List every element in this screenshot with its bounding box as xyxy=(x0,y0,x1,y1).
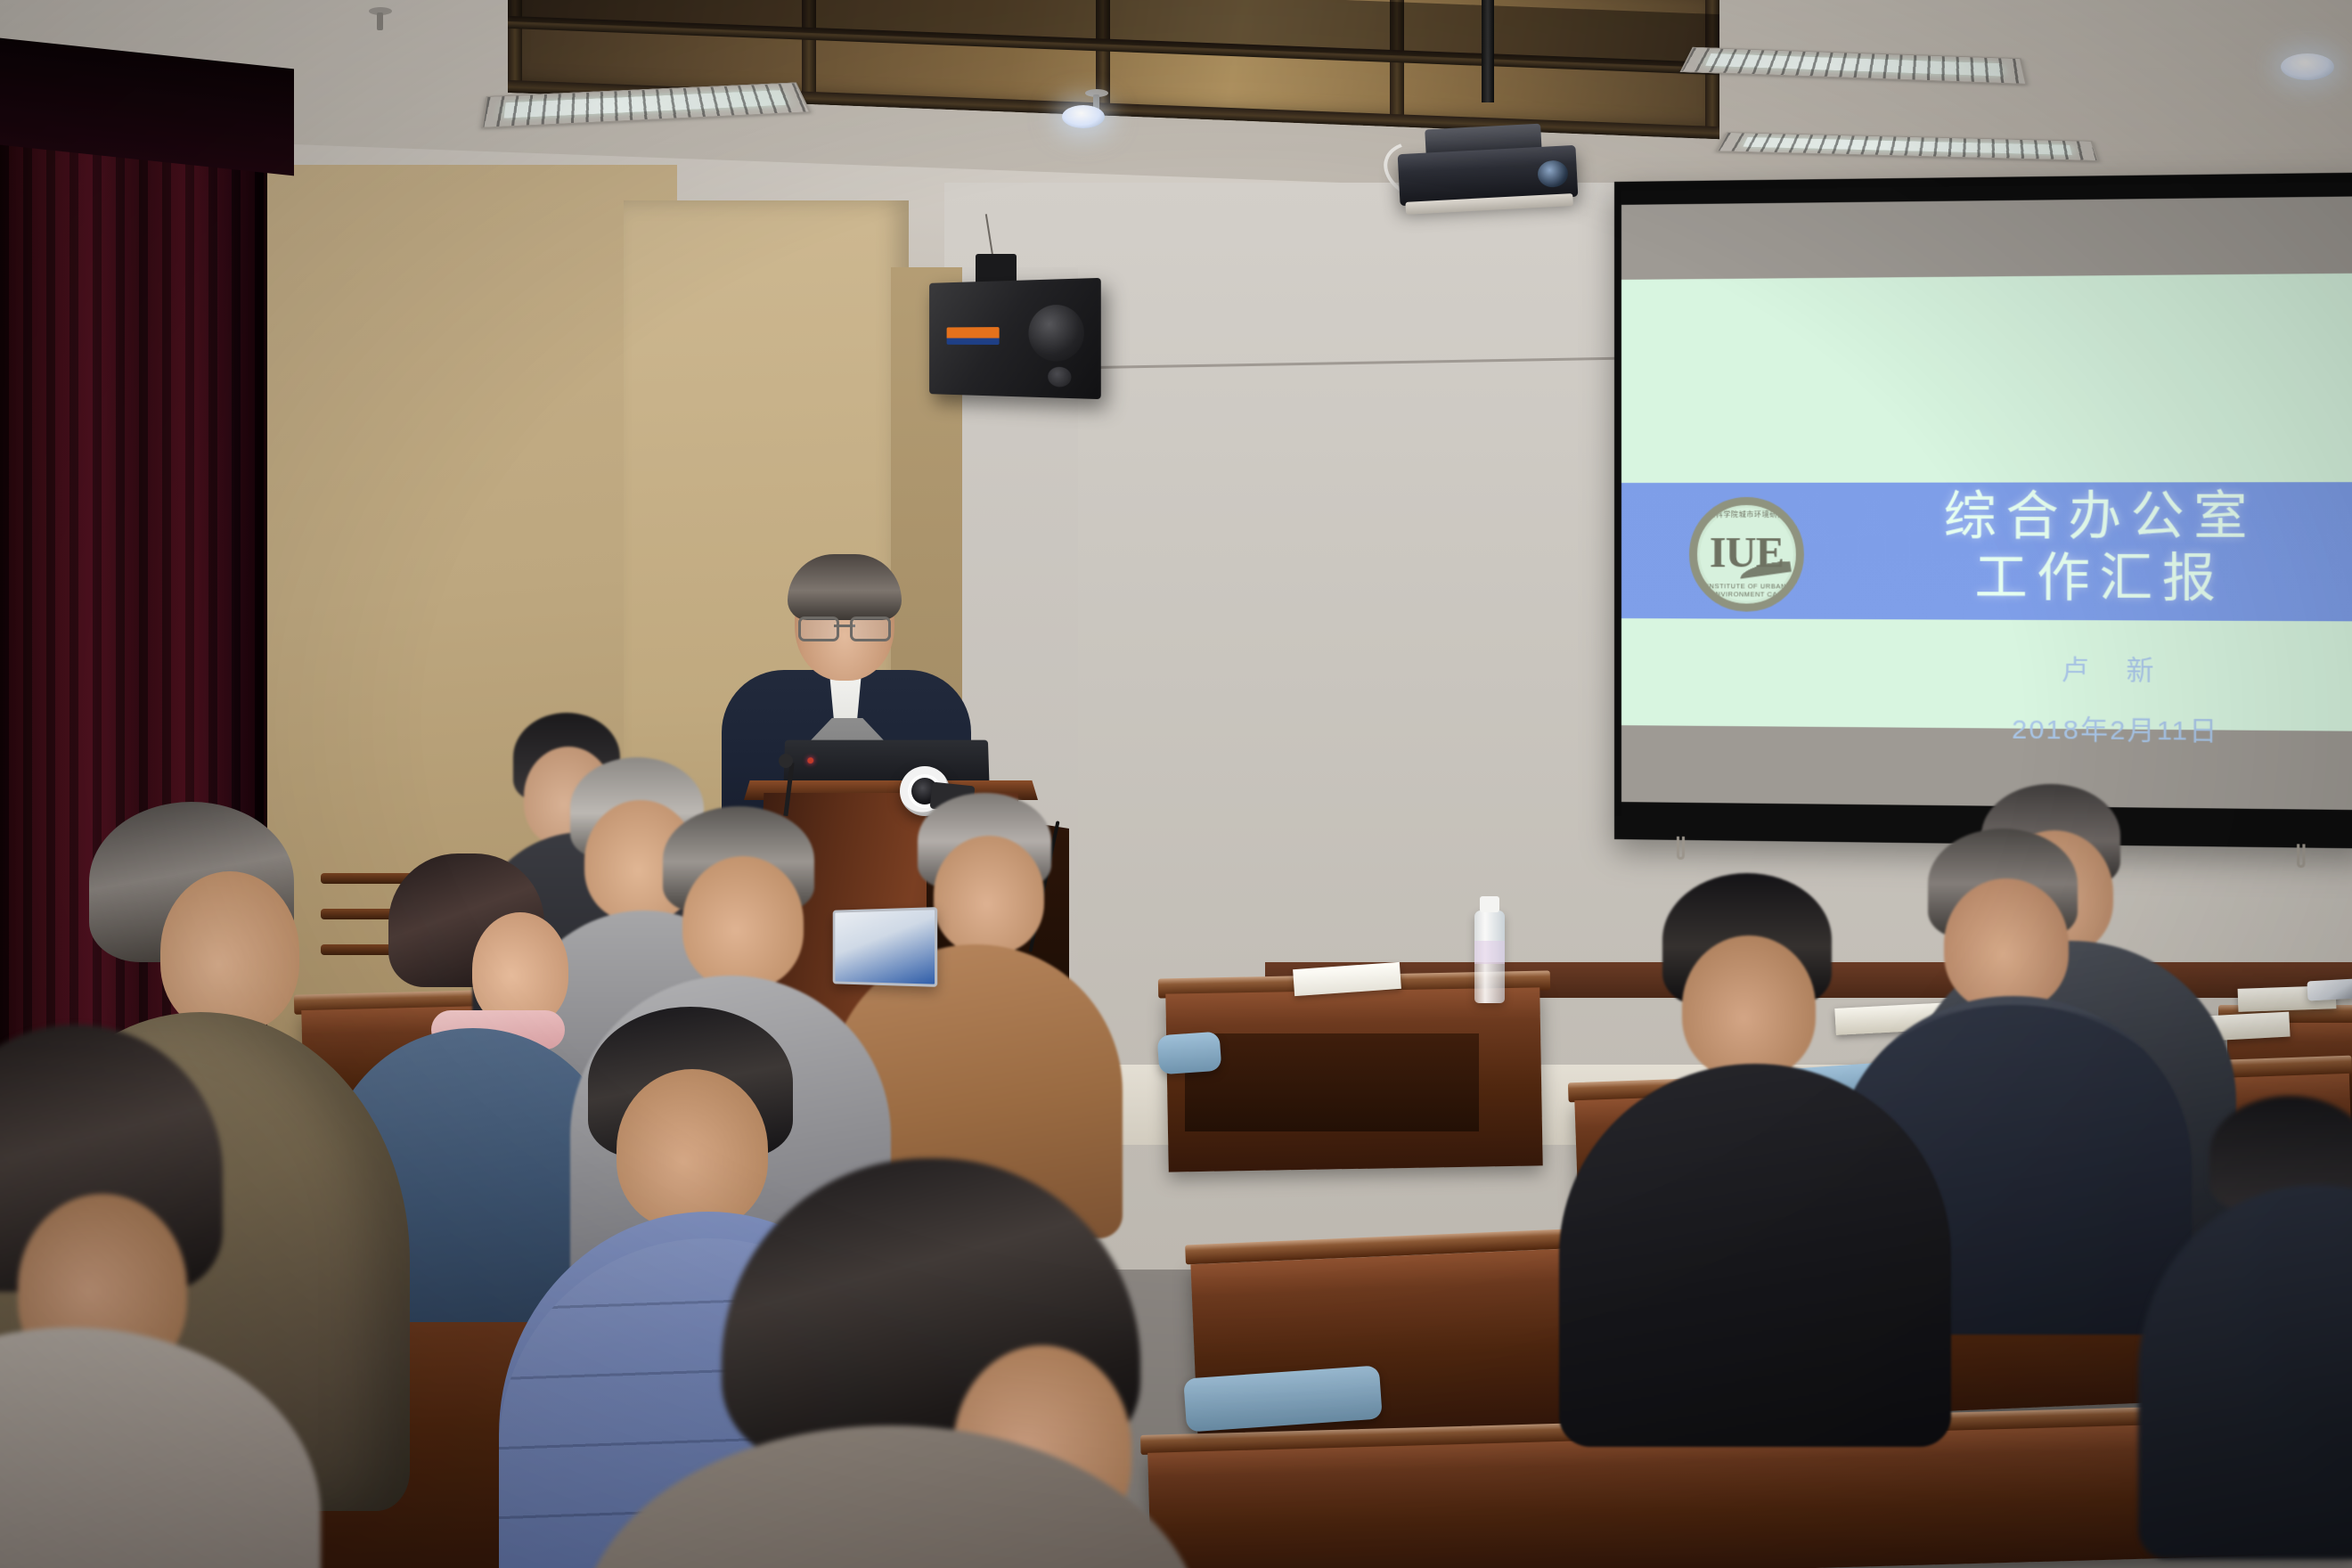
attendee-torso xyxy=(1559,1064,1951,1447)
water-bottle xyxy=(1474,911,1505,1003)
fire-sprinkler-icon xyxy=(369,4,392,34)
projection-screen: 中国科学院城市环境研究所 IUE INSTITUTE OF URBAN ENVI… xyxy=(1614,173,2352,849)
screen-surface: 中国科学院城市环境研究所 IUE INSTITUTE OF URBAN ENVI… xyxy=(1621,182,2352,825)
dome-light-icon xyxy=(1062,105,1105,128)
speaker-tweeter-icon xyxy=(1048,367,1071,388)
iue-logo: 中国科学院城市环境研究所 IUE INSTITUTE OF URBAN ENVI… xyxy=(1689,497,1804,612)
slide-title-line-1: 综合办公室 xyxy=(1880,486,2322,548)
desk-modesty-panel xyxy=(1185,1033,1479,1131)
screen-hook-icon xyxy=(2297,844,2305,868)
screen-hook-icon xyxy=(1677,837,1685,860)
speaker-woofer-icon xyxy=(1028,305,1084,362)
conference-room-photo: 中国科学院城市环境研究所 IUE INSTITUTE OF URBAN ENVI… xyxy=(0,0,2352,1568)
ceiling-projector xyxy=(1398,145,1579,206)
presentation-slide: 中国科学院城市环境研究所 IUE INSTITUTE OF URBAN ENVI… xyxy=(1621,274,2352,731)
attendee-head xyxy=(1944,878,2069,1010)
presenter-glasses-icon xyxy=(798,617,891,636)
attendee-head xyxy=(160,871,299,1032)
dome-light-icon xyxy=(2281,53,2334,80)
microphone-icon xyxy=(779,754,793,768)
chair-back xyxy=(1157,1032,1222,1075)
attendee-head xyxy=(682,856,804,988)
projector-lens-icon xyxy=(1537,159,1569,188)
attendee-head xyxy=(472,912,568,1026)
logo-ring-top-text: 中国科学院城市环境研究所 xyxy=(1697,510,1796,519)
tablet xyxy=(2307,979,2352,1001)
slide-date: 2018年2月11日 xyxy=(1918,706,2315,748)
slide-author: 卢 新 xyxy=(1918,647,2315,689)
projector-pole xyxy=(1482,0,1494,102)
slide-subtitle-block: 卢 新 2018年2月11日 xyxy=(1918,647,2315,749)
logo-ring-bottom-text: INSTITUTE OF URBAN ENVIRONMENT CAS xyxy=(1701,582,1792,598)
attendee-head xyxy=(934,836,1044,953)
speaker-brand-badge xyxy=(947,327,1000,345)
attendee-head xyxy=(617,1069,768,1229)
slide-title-line-2: 工作汇报 xyxy=(1880,548,2322,611)
slide-title-block: 综合办公室 工作汇报 xyxy=(1880,486,2322,611)
open-laptop xyxy=(833,907,937,987)
presenter-hair xyxy=(788,554,902,620)
attendee-head xyxy=(1682,935,1816,1078)
wall-speaker xyxy=(929,278,1101,399)
